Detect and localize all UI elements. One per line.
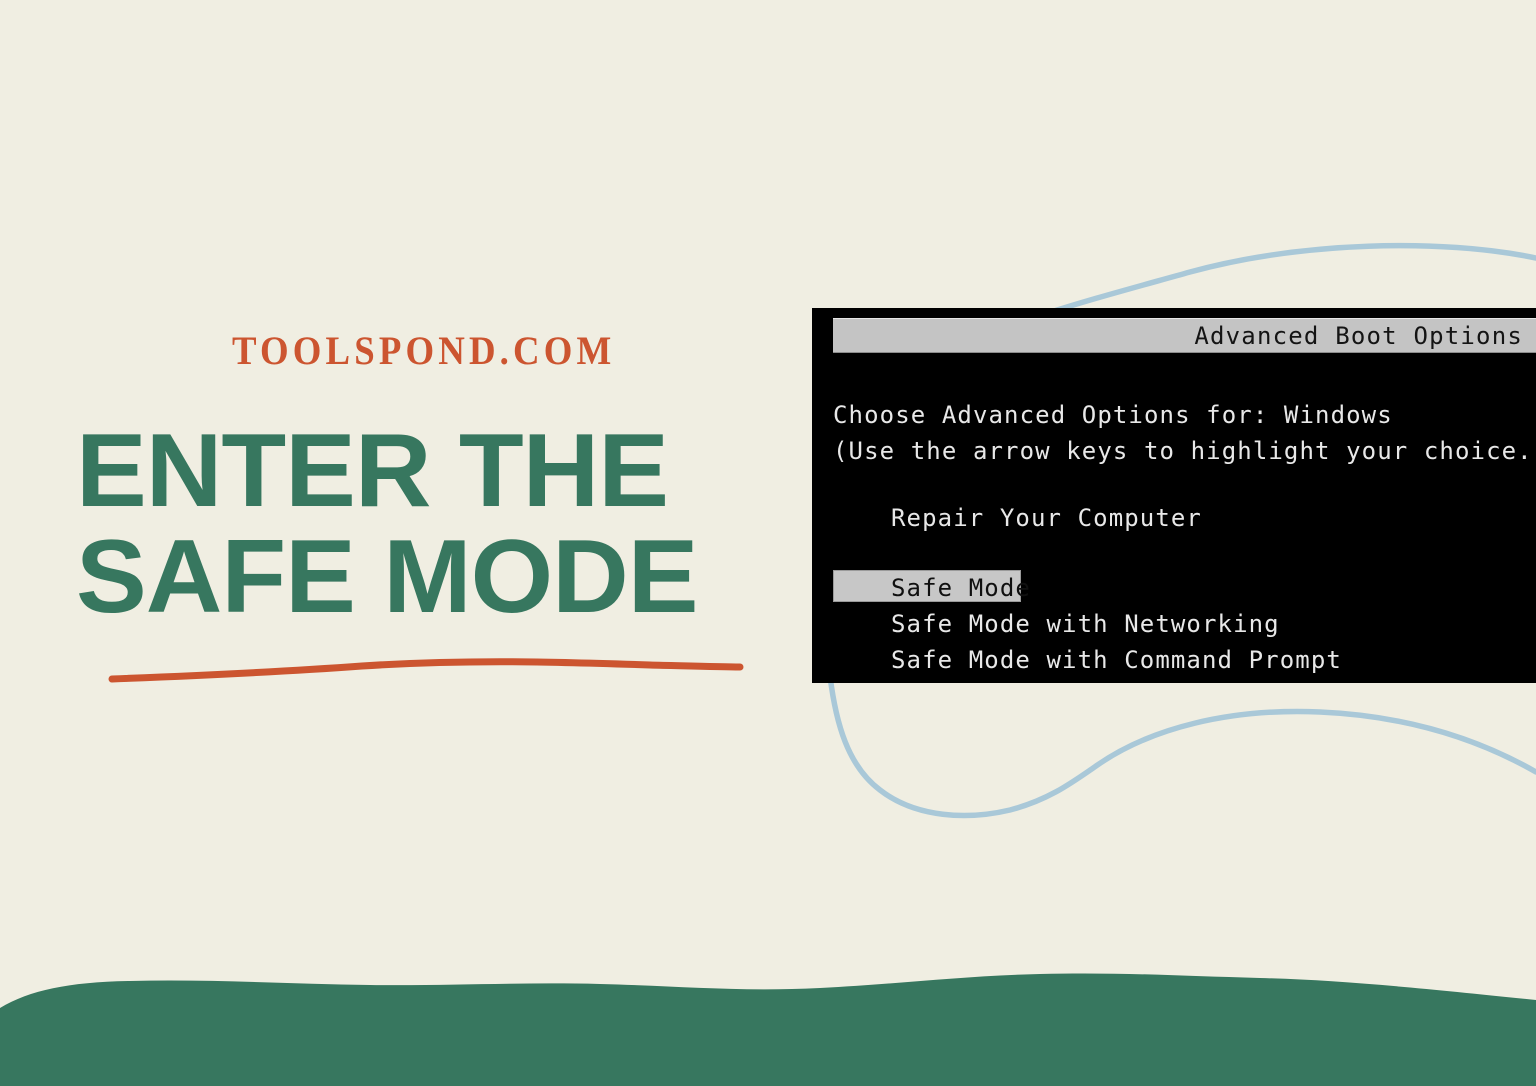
boot-option-safe-mode[interactable]: Safe Mode [833,570,1536,606]
headline-line-1: ENTER THE [76,418,831,524]
page-title: ENTER THE SAFE MODE [76,418,816,630]
headline-line-2: SAFE MODE [76,524,831,630]
boot-option-safe-mode-with-networking[interactable]: Safe Mode with Networking [833,606,1536,642]
terminal-prompt-line-2: (Use the arrow keys to highlight your ch… [833,437,1536,465]
boot-option-repair-your-computer[interactable]: Repair Your Computer [833,500,1536,536]
boot-option-list: Repair Your Computer Safe Mode Safe Mode… [833,500,1536,678]
terminal-prompt-line-1: Choose Advanced Options for: Windows [833,401,1393,429]
boot-option-label: Safe Mode with Command Prompt [891,646,1342,674]
boot-option-label: Safe Mode with Networking [891,610,1280,638]
boot-option-label: Safe Mode [891,574,1031,602]
advanced-boot-options-window: Advanced Boot Options Choose Advanced Op… [812,308,1536,683]
terminal-titlebar: Advanced Boot Options [833,318,1536,353]
boot-option-safe-mode-with-command-prompt[interactable]: Safe Mode with Command Prompt [833,642,1536,678]
boot-option-label: Repair Your Computer [891,504,1202,532]
poster-canvas: TOOLSPOND.COM ENTER THE SAFE MODE Advanc… [0,0,1536,1086]
brand-wordmark: TOOLSPOND.COM [232,329,615,373]
terminal-body: Choose Advanced Options for: Windows (Us… [833,366,1536,683]
terminal-title: Advanced Boot Options [1194,322,1536,350]
